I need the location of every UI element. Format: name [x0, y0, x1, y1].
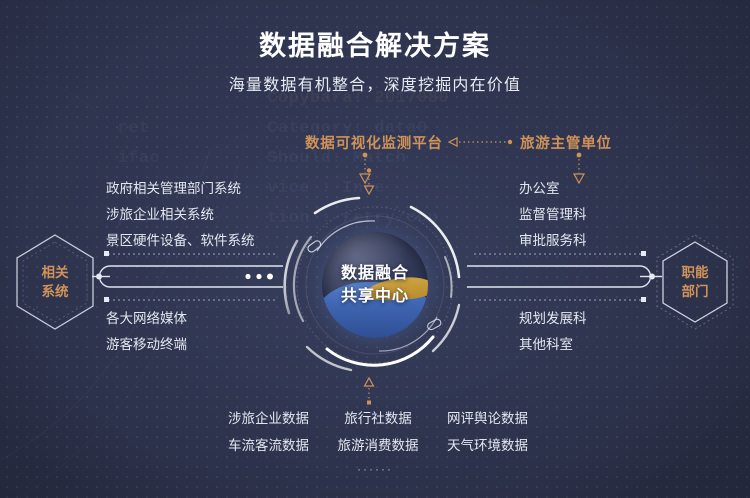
right-department-list-bottom: 规划发展科 其他科室: [519, 306, 587, 358]
grid-cell: 旅行社数据: [344, 405, 412, 432]
hex-left-line1: 相关: [42, 263, 69, 282]
grid-cell: 网评舆论数据: [447, 405, 528, 432]
list-item: 其他科室: [519, 332, 587, 358]
list-item: 景区硬件设备、软件系统: [106, 228, 255, 254]
grid-ellipsis: ······: [0, 462, 750, 476]
bottom-data-grid: 涉旅企业数据 旅行社数据 网评舆论数据 车流客流数据 旅游消费数据 天气环境数据: [228, 405, 528, 459]
hexagon-functional-departments[interactable]: 职能 部门: [652, 232, 738, 332]
hexagon-left-label: 相关 系统: [12, 232, 98, 332]
list-item: 各大网络媒体: [106, 306, 187, 332]
grid-cell: 旅游消费数据: [338, 432, 419, 459]
sphere-label-line2: 共享中心: [341, 285, 409, 308]
grid-cell: 天气环境数据: [447, 432, 528, 459]
hexagon-right-label: 职能 部门: [652, 232, 738, 332]
hex-left-line2: 系统: [42, 282, 69, 301]
hexagon-related-systems[interactable]: 相关 系统: [12, 232, 98, 332]
list-item: 政府相关管理部门系统: [106, 176, 255, 202]
grid-cell: 涉旅企业数据: [228, 405, 309, 432]
grid-cell: 车流客流数据: [228, 432, 309, 459]
table-row: 车流客流数据 旅游消费数据 天气环境数据: [228, 432, 528, 459]
table-row: 涉旅企业数据 旅行社数据 网评舆论数据: [228, 405, 528, 432]
sphere-label-line1: 数据融合: [341, 262, 409, 285]
left-source-list-bottom: 各大网络媒体 游客移动终端: [106, 306, 187, 358]
infographic-canvas: Copybara: 2017080 ret Category: data0 if…: [0, 0, 750, 498]
list-item: 游客移动终端: [106, 332, 187, 358]
left-source-list-top: 政府相关管理部门系统 涉旅企业相关系统 景区硬件设备、软件系统: [106, 176, 255, 254]
list-item: 审批服务科: [519, 228, 587, 254]
list-item: 规划发展科: [519, 306, 587, 332]
list-item: 监督管理科: [519, 202, 587, 228]
hex-right-line1: 职能: [682, 263, 709, 282]
hex-right-line2: 部门: [682, 282, 709, 301]
list-item: 办公室: [519, 176, 587, 202]
central-sphere-label: 数据融合 共享中心: [322, 232, 428, 338]
list-item: 涉旅企业相关系统: [106, 202, 255, 228]
right-department-list-top: 办公室 监督管理科 审批服务科: [519, 176, 587, 254]
